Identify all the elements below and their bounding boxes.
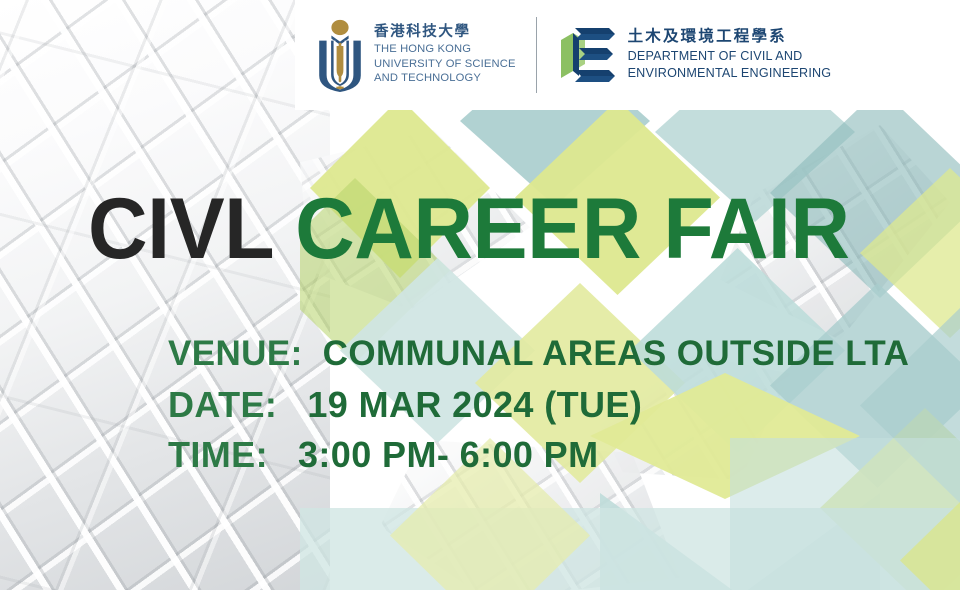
title-part-career-fair: CAREER FAIR [295, 181, 849, 277]
time-label: TIME: [168, 434, 268, 475]
venue-label: VENUE: [168, 334, 303, 373]
date-label: DATE: [168, 384, 277, 425]
venue-line: VENUE:COMMUNAL AREAS OUTSIDE LTA [168, 336, 909, 371]
poster-title: CIVL CAREER FAIR [88, 186, 849, 272]
career-fair-poster: 香港科技大學 THE HONG KONG UNIVERSITY OF SCIEN… [0, 0, 960, 590]
poster-content: CIVL CAREER FAIR VENUE:COMMUNAL AREAS OU… [0, 0, 960, 590]
date-line: DATE:19 MAR 2024 (TUE) [168, 387, 909, 423]
title-part-civl: CIVL [88, 181, 273, 277]
time-value: 3:00 PM- 6:00 PM [298, 434, 599, 475]
date-value: 19 MAR 2024 (TUE) [307, 384, 642, 425]
event-details: VENUE:COMMUNAL AREAS OUTSIDE LTA DATE:19… [168, 336, 909, 473]
venue-value: COMMUNAL AREAS OUTSIDE LTA [323, 334, 910, 373]
time-line: TIME:3:00 PM- 6:00 PM [168, 437, 909, 473]
title-space [273, 181, 295, 277]
